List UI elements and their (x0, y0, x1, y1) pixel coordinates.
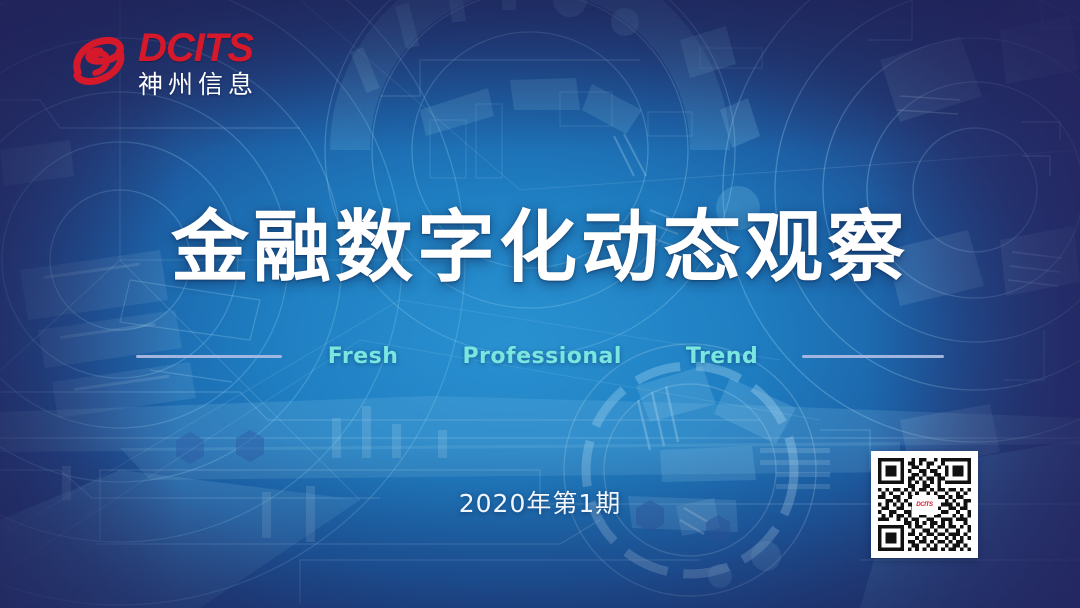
gear-ring-center-top (325, 0, 760, 355)
dcits-swirl-mark (68, 29, 130, 97)
tagline-rule-right (802, 355, 944, 358)
logo-wordmark-group: DCITS 神州信息 (138, 28, 258, 97)
logo-chinese-name: 神州信息 (138, 72, 258, 97)
gear-ring-center-bottom (564, 344, 816, 596)
page-title: 金融数字化动态观察 (0, 185, 1080, 297)
qr-center-logo-text: DCITS (916, 502, 933, 508)
brand-logo: DCITS 神州信息 (68, 28, 258, 97)
logo-wordmark: DCITS (138, 28, 258, 68)
qr-center-logo: DCITS (912, 495, 938, 515)
qr-modules: DCITS (878, 458, 971, 551)
qr-code[interactable]: DCITS (871, 451, 978, 558)
tagline-word-professional: Professional (462, 344, 621, 369)
tagline-word-trend: Trend (686, 344, 758, 369)
slide-canvas: DCITS 神州信息 金融数字化动态观察 Fresh Professional … (0, 0, 1080, 608)
tagline-word-fresh: Fresh (328, 344, 399, 369)
tagline-row: Fresh Professional Trend (0, 340, 1080, 372)
tagline-rule-left (136, 355, 282, 358)
